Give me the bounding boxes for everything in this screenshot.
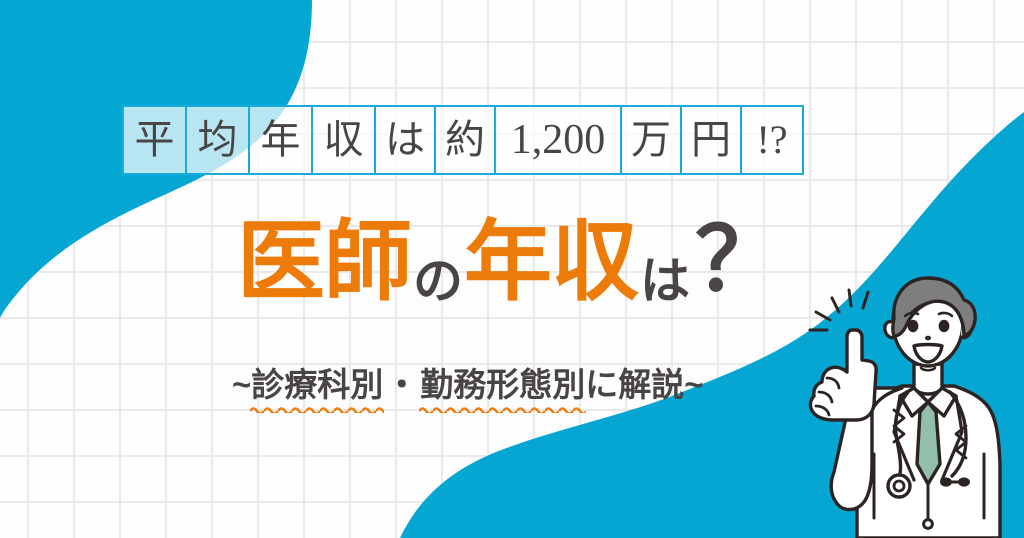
eye-left xyxy=(908,320,919,332)
callout-cell: 万 xyxy=(620,105,682,175)
callout-cell: 年 xyxy=(248,105,313,175)
subtitle-lead-tilde: ~ xyxy=(232,366,251,404)
callout-cell: 均 xyxy=(185,105,250,175)
page-title: 医師 の 年収 は ？ xyxy=(237,218,783,306)
coat-button xyxy=(924,520,933,529)
callout-cell: 約 xyxy=(434,105,496,175)
eye-right xyxy=(939,320,950,332)
nose xyxy=(925,336,931,341)
tie xyxy=(917,402,940,484)
subtitle-underlined-1: 診療科別 xyxy=(251,358,383,406)
title-question-mark: ？ xyxy=(691,218,783,306)
boxed-callout-row: 平 均 年 収 は 約 1,200 万 円 !? xyxy=(122,105,804,175)
sparkle-icon xyxy=(810,290,868,330)
callout-cell: 平 xyxy=(122,105,187,175)
title-part-orange-2: 年収 xyxy=(464,218,638,306)
neck xyxy=(914,364,942,394)
callout-cell-amount: 1,200 xyxy=(494,105,622,175)
subtitle-underlined-2: 勤務形態別 xyxy=(420,358,585,406)
callout-cell: 円 xyxy=(680,105,742,175)
doctor-pointing-up-illustration xyxy=(794,268,1024,538)
callout-cell: は xyxy=(374,105,436,175)
callout-cell-interrobang: !? xyxy=(740,105,804,175)
title-part-orange-1: 医師 xyxy=(237,218,411,306)
banner-root: 平 均 年 収 は 約 1,200 万 円 !? 医師 の 年収 は ？ ~ 診… xyxy=(0,0,1024,538)
subtitle-separator: ・ xyxy=(383,358,420,406)
subtitle-tail: に解説 xyxy=(585,358,684,406)
subtitle: ~ 診療科別 ・ 勤務形態別 に解説 ~ xyxy=(232,358,704,406)
title-part-dark-1: の xyxy=(411,256,464,306)
title-part-dark-2: は xyxy=(638,256,691,306)
subtitle-trail-tilde: ~ xyxy=(684,366,703,404)
callout-cell: 収 xyxy=(311,105,376,175)
stethoscope-chestpiece-inner xyxy=(894,481,904,491)
